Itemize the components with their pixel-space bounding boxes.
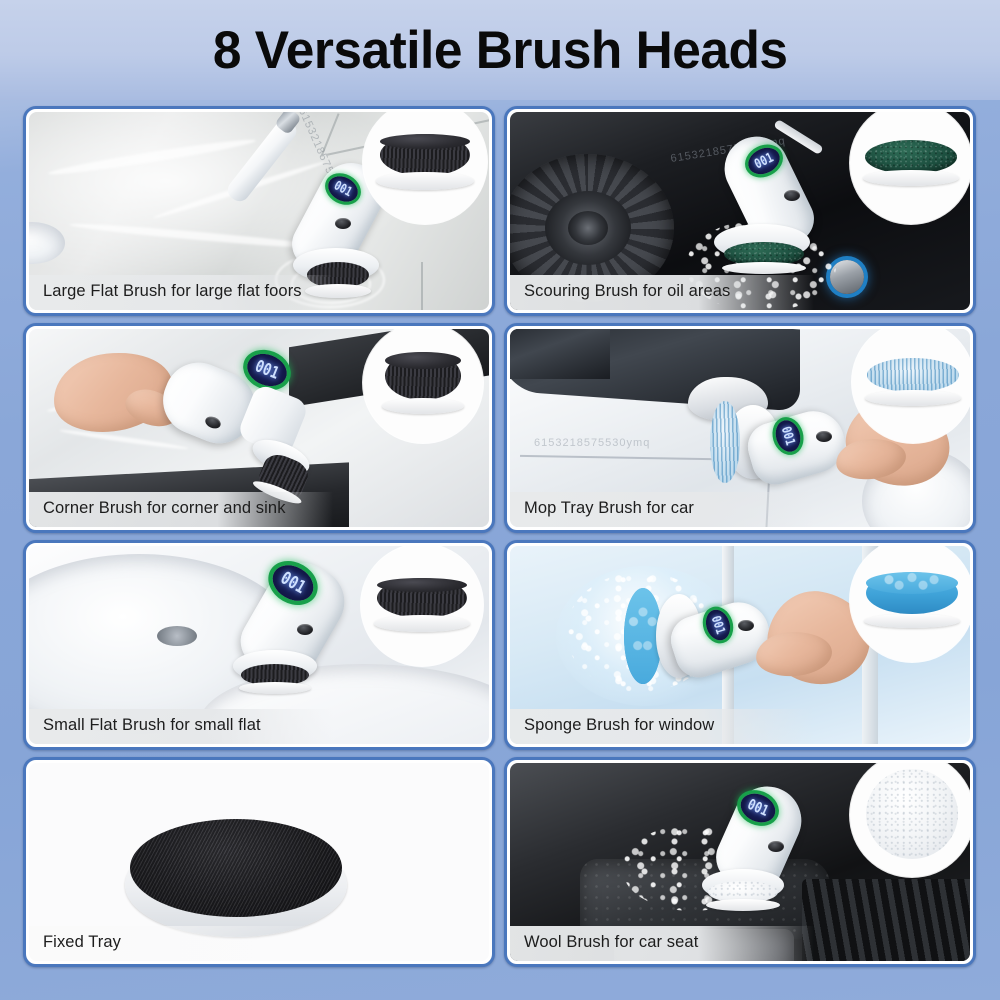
attached-brush-head: [239, 664, 311, 694]
head-base: [722, 262, 806, 274]
power-button[interactable]: [738, 620, 754, 631]
tray-velcro-surface: [130, 819, 342, 917]
bristle-surface: [380, 134, 470, 176]
inset-circle-corner-brush: [363, 327, 483, 443]
mop-surface: [710, 401, 740, 483]
display-digits: 001: [745, 796, 771, 820]
wool-surface: [866, 769, 958, 859]
card-sponge-brush[interactable]: 001 Sponge Brush for window: [504, 540, 976, 750]
mop-surface: [867, 358, 959, 392]
card-inner: 001 Sponge Brush for window: [508, 544, 972, 746]
wool-texture: [866, 769, 958, 859]
card-scouring-brush[interactable]: 001 6153218575530ymq: [504, 106, 976, 316]
caption-scouring-brush: Scouring Brush for oil areas: [510, 275, 814, 310]
card-mop-tray-brush[interactable]: 001 6153218575530ymq Mop Tray Brush for …: [504, 323, 976, 533]
brush-head-grid: 001 6153218575530ymq: [23, 106, 977, 967]
card-inner: 001 6153218575530ymq Mop Tray Brush for …: [508, 327, 972, 529]
power-button[interactable]: [784, 190, 800, 201]
inset-head-wool-pad: [864, 769, 960, 861]
page-title: 8 Versatile Brush Heads: [213, 20, 788, 81]
sponge-honeycomb: [866, 572, 958, 594]
head-base: [374, 615, 470, 632]
display-digits: 001: [331, 178, 354, 200]
attached-scour-pad: [722, 242, 806, 274]
car-window-rear: [510, 329, 610, 379]
card-inner: 001: [508, 761, 972, 963]
page-header: 8 Versatile Brush Heads: [0, 0, 1000, 100]
scour-surface: [865, 140, 957, 174]
head-base: [239, 682, 311, 694]
inset-circle-small-flat-brush: [361, 544, 483, 666]
bristle-tips: [385, 352, 461, 369]
bristle-tips: [380, 134, 470, 149]
display-digits: 001: [778, 425, 798, 447]
burner-center-cap: [568, 211, 608, 245]
velcro-texture: [130, 819, 342, 917]
power-button[interactable]: [768, 841, 784, 852]
mop-texture: [710, 401, 740, 483]
device-display: 001: [242, 348, 291, 392]
card-small-flat-brush[interactable]: 001 Small Flat Br: [23, 540, 495, 750]
card-inner: 001 6153218575530ymq: [27, 110, 491, 312]
inset-circle-wool-brush: [850, 761, 972, 877]
card-inner: 001 Small Flat Br: [27, 544, 491, 746]
sponge-surface: [866, 572, 958, 614]
inset-circle-mop-tray-brush: [852, 327, 972, 443]
head-base: [865, 390, 961, 406]
image-watermark: 6153218575530ymq: [534, 437, 650, 449]
head-base: [864, 614, 960, 628]
card-inner: 001 6153218575530ymq: [508, 110, 972, 312]
scour-texture: [865, 140, 957, 174]
card-inner: Fixed Tray: [27, 761, 491, 963]
card-large-flat-brush[interactable]: 001 6153218575530ymq: [23, 106, 495, 316]
display-digits: 001: [252, 357, 281, 384]
caption-sponge-brush: Sponge Brush for window: [510, 709, 814, 744]
card-inner: 001 Co: [27, 327, 491, 529]
caption-mop-tray-brush: Mop Tray Brush for car: [510, 492, 814, 527]
head-base: [382, 398, 464, 414]
inset-head-scouring-pad: [863, 140, 959, 186]
head-base: [706, 899, 780, 911]
caption-small-flat-brush: Small Flat Brush for small flat: [29, 709, 333, 744]
inset-head-sponge-pad: [864, 572, 960, 628]
power-button[interactable]: [816, 431, 832, 442]
sink-drain: [157, 626, 197, 646]
bristle-surface: [385, 352, 461, 400]
attached-wool-pad: [706, 881, 780, 911]
inset-circle-sponge-brush: [850, 544, 972, 662]
power-button[interactable]: [297, 624, 313, 635]
attached-mop-pad: [710, 401, 750, 483]
inset-head-large-flat-brush: [376, 134, 474, 190]
inset-head-corner-brush: [382, 352, 464, 414]
inset-head-small-flat-brush: [374, 578, 470, 632]
power-button[interactable]: [335, 218, 351, 229]
card-wool-brush[interactable]: 001: [504, 757, 976, 967]
fixed-tray-product: [125, 819, 347, 937]
bristle-surface: [377, 578, 467, 618]
caption-wool-brush: Wool Brush for car seat: [510, 926, 814, 961]
caption-fixed-tray: Fixed Tray: [29, 926, 333, 961]
inset-head-mop-pad: [865, 358, 961, 406]
bristle-tips: [377, 578, 467, 592]
head-base: [376, 172, 474, 190]
card-fixed-tray[interactable]: Fixed Tray: [23, 757, 495, 967]
caption-large-flat-brush: Large Flat Brush for large flat foors: [29, 275, 333, 310]
caption-corner-brush: Corner Brush for corner and sink: [29, 492, 333, 527]
mop-texture: [867, 358, 959, 392]
display-digits: 001: [277, 568, 309, 598]
card-corner-brush[interactable]: 001 Co: [23, 323, 495, 533]
display-digits: 001: [752, 150, 776, 172]
display-digits: 001: [708, 614, 728, 636]
head-base: [863, 170, 959, 186]
